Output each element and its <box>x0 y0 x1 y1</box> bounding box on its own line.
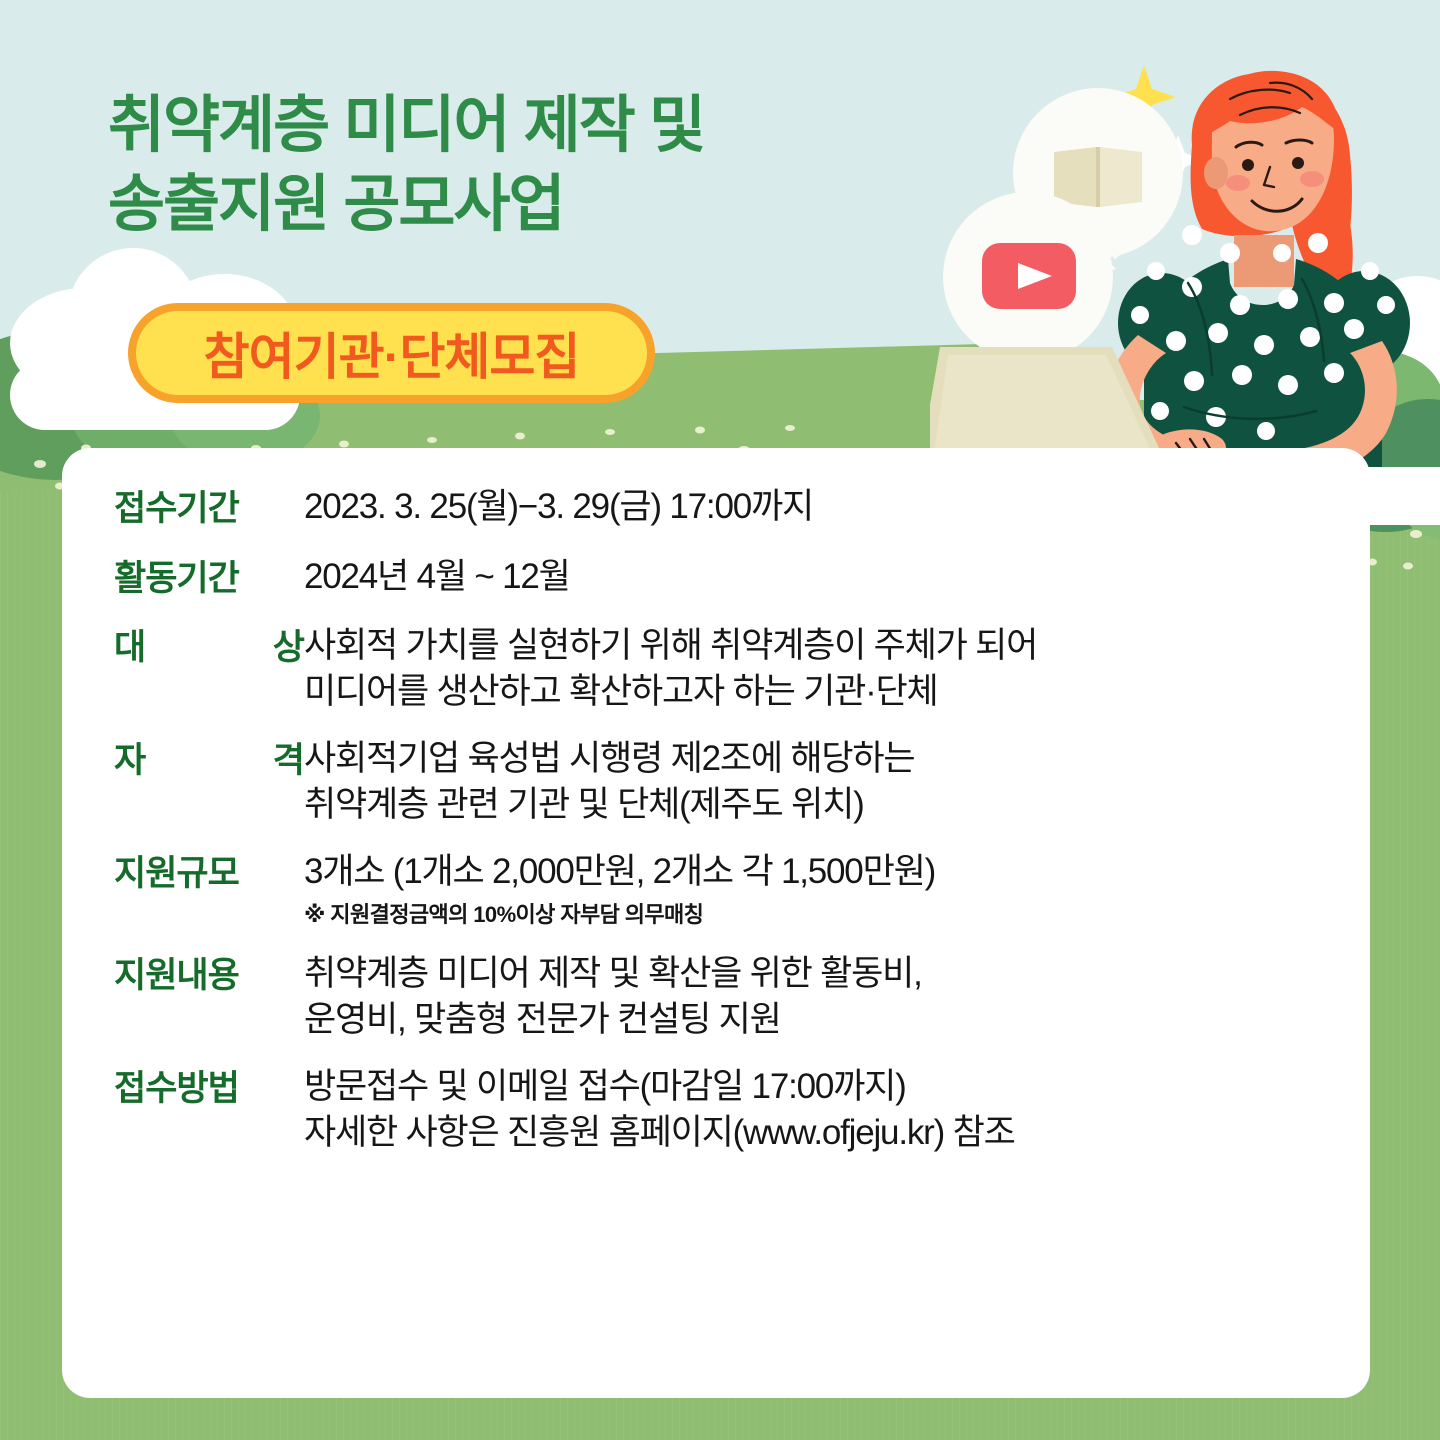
detail-label: 접수방법 <box>114 1064 304 1112</box>
book-icon <box>1054 147 1142 207</box>
play-button-icon <box>982 243 1076 309</box>
cheek-left <box>1226 175 1250 191</box>
detail-row: 자 격 사회적기업 육성법 시행령 제2조에 해당하는 취약계층 관련 기관 및… <box>114 736 1334 827</box>
detail-row: 대 상 사회적 가치를 실현하기 위해 취약계층이 주체가 되어 미디어를 생산… <box>114 623 1334 714</box>
details-rows: 접수기간 2023. 3. 25(월)−3. 29(금) 17:00까지 활동기… <box>114 484 1334 1155</box>
detail-label: 활동기간 <box>114 554 304 602</box>
detail-value: 2024년 4월 ~ 12월 <box>304 554 1334 600</box>
detail-label: 자 격 <box>114 736 304 784</box>
detail-value: 사회적기업 육성법 시행령 제2조에 해당하는 취약계층 관련 기관 및 단체(… <box>304 736 1334 827</box>
cheek-right <box>1300 171 1324 187</box>
detail-label: 대 상 <box>114 623 304 671</box>
detail-value: 사회적 가치를 실현하기 위해 취약계층이 주체가 되어 미디어를 생산하고 확… <box>304 623 1334 714</box>
eye-right <box>1292 157 1304 169</box>
detail-label: 지원내용 <box>114 951 304 999</box>
detail-row: 지원내용 취약계층 미디어 제작 및 확산을 위한 활동비, 운영비, 맞춤형 … <box>114 951 1334 1042</box>
detail-value: 3개소 (1개소 2,000만원, 2개소 각 1,500만원) <box>304 849 935 895</box>
detail-row: 접수방법 방문접수 및 이메일 접수(마감일 17:00까지) 자세한 사항은 … <box>114 1064 1334 1155</box>
ear <box>1204 157 1228 189</box>
detail-value: 취약계층 미디어 제작 및 확산을 위한 활동비, 운영비, 맞춤형 전문가 컨… <box>304 951 1334 1042</box>
page-title: 취약계층 미디어 제작 및 송출지원 공모사업 <box>108 86 704 245</box>
poster-root: 취약계층 미디어 제작 및 송출지원 공모사업 참여기관·단체모집 <box>0 0 1440 1440</box>
recruitment-badge: 참여기관·단체모집 <box>128 303 655 403</box>
detail-value-group: 3개소 (1개소 2,000만원, 2개소 각 1,500만원) ※ 지원결정금… <box>304 849 935 929</box>
recruitment-badge-label: 참여기관·단체모집 <box>204 317 580 389</box>
detail-note: ※ 지원결정금액의 10%이상 자부담 의무매칭 <box>304 901 935 930</box>
detail-row: 접수기간 2023. 3. 25(월)−3. 29(금) 17:00까지 <box>114 484 1334 532</box>
detail-value: 방문접수 및 이메일 접수(마감일 17:00까지) 자세한 사항은 진흥원 홈… <box>304 1064 1334 1155</box>
detail-row: 지원규모 3개소 (1개소 2,000만원, 2개소 각 1,500만원) ※ … <box>114 849 1334 929</box>
detail-label: 접수기간 <box>114 484 304 532</box>
eye-left <box>1242 159 1254 171</box>
detail-value: 2023. 3. 25(월)−3. 29(금) 17:00까지 <box>304 484 1334 530</box>
details-card: 접수기간 2023. 3. 25(월)−3. 29(금) 17:00까지 활동기… <box>62 448 1370 1398</box>
detail-row: 활동기간 2024년 4월 ~ 12월 <box>114 554 1334 602</box>
detail-label: 지원규모 <box>114 849 304 897</box>
